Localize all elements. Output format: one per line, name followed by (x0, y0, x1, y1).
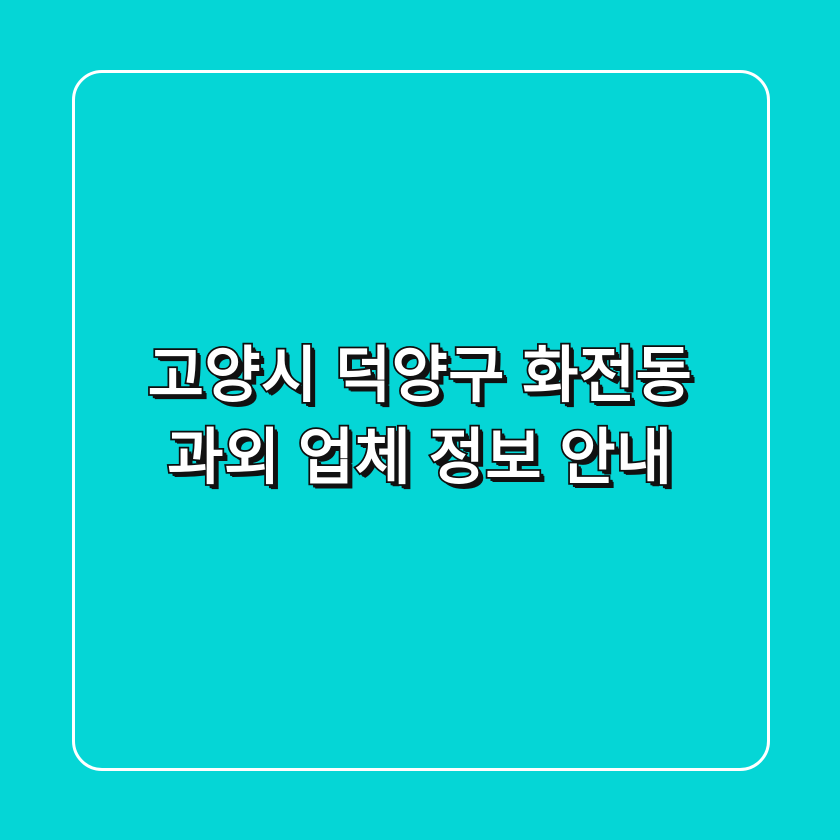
poster-canvas: 고양시 덕양구 화전동 과외 업체 정보 안내 (0, 0, 840, 840)
headline-line-1: 고양시 덕양구 화전동 (70, 334, 770, 416)
headline-block: 고양시 덕양구 화전동 과외 업체 정보 안내 (70, 334, 770, 506)
headline-line-2: 과외 업체 정보 안내 (70, 416, 770, 498)
